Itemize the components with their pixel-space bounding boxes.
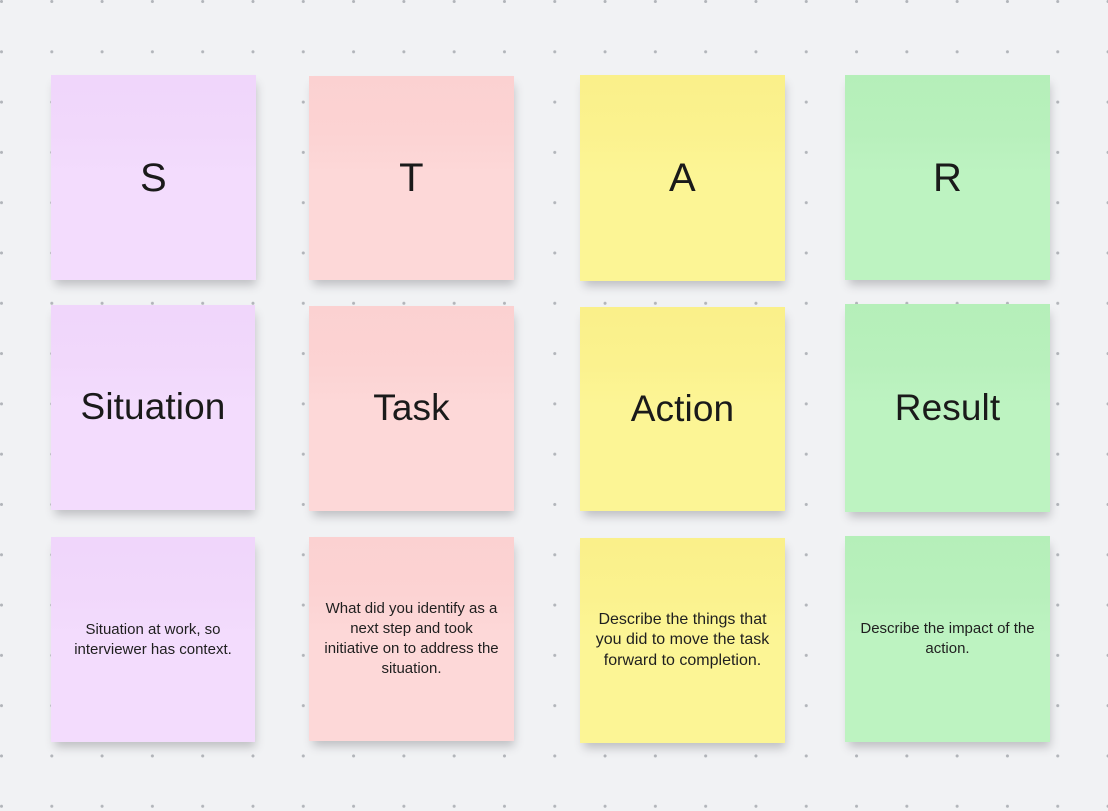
sticky-note-text: A <box>580 156 785 200</box>
sticky-note-text: Action <box>580 388 785 431</box>
sticky-note-text: S <box>51 156 256 200</box>
sticky-note-text: Situation <box>51 386 255 429</box>
sticky-note-action-letter[interactable]: A <box>580 75 785 281</box>
sticky-note-text: Describe the things that you did to move… <box>580 610 785 671</box>
sticky-note-task-title[interactable]: Task <box>309 306 514 511</box>
whiteboard-canvas[interactable]: S T A R Situation Task Action Result Sit… <box>0 0 1108 811</box>
sticky-note-text: Task <box>309 387 514 430</box>
sticky-note-situation-description[interactable]: Situation at work, so interviewer has co… <box>51 537 255 742</box>
sticky-note-text: Result <box>845 387 1050 430</box>
sticky-note-action-title[interactable]: Action <box>580 307 785 511</box>
sticky-note-result-title[interactable]: Result <box>845 304 1050 512</box>
sticky-note-text: Describe the impact of the action. <box>845 619 1050 659</box>
sticky-note-text: T <box>309 156 514 200</box>
sticky-note-text: Situation at work, so interviewer has co… <box>51 620 255 660</box>
sticky-note-text: What did you identify as a next step and… <box>309 599 514 679</box>
sticky-note-result-letter[interactable]: R <box>845 75 1050 280</box>
sticky-note-text: R <box>845 156 1050 200</box>
sticky-note-task-description[interactable]: What did you identify as a next step and… <box>309 537 514 741</box>
sticky-note-result-description[interactable]: Describe the impact of the action. <box>845 536 1050 742</box>
sticky-note-task-letter[interactable]: T <box>309 76 514 280</box>
sticky-note-situation-title[interactable]: Situation <box>51 305 255 510</box>
sticky-note-action-description[interactable]: Describe the things that you did to move… <box>580 538 785 743</box>
sticky-note-situation-letter[interactable]: S <box>51 75 256 280</box>
